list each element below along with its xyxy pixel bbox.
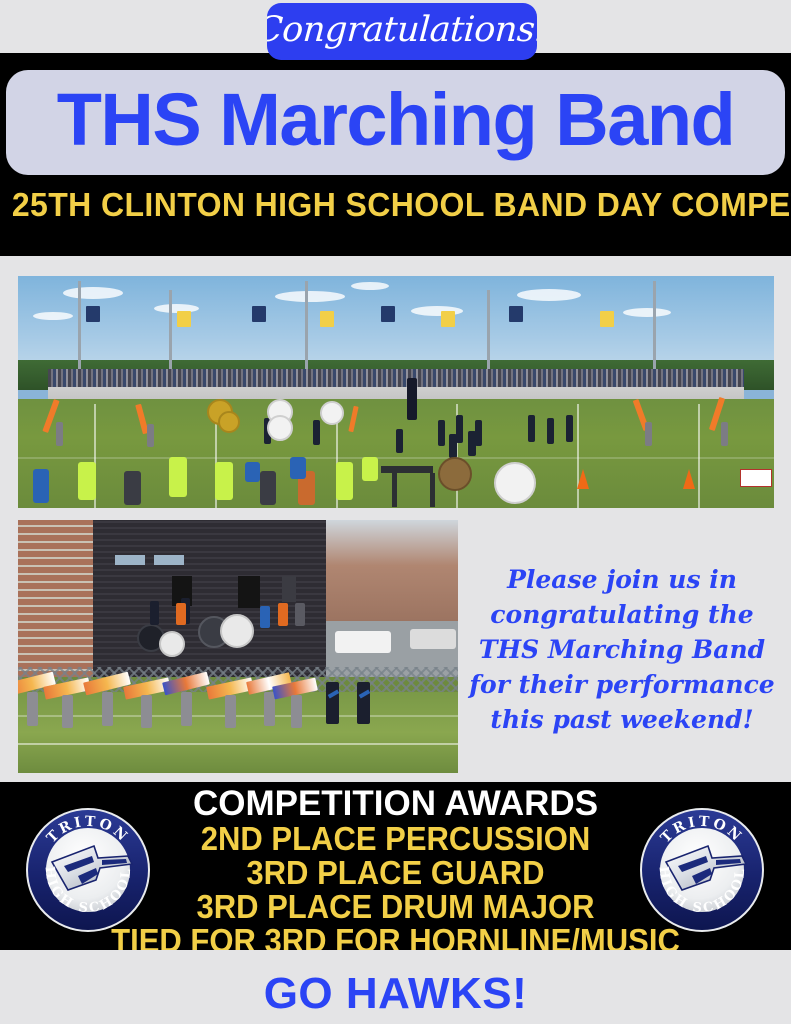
brick-wall bbox=[18, 520, 93, 677]
drum-major bbox=[407, 378, 417, 420]
go-hawks-cheer: GO HAWKS! bbox=[0, 972, 791, 1016]
crowd bbox=[48, 369, 744, 388]
page-title: THS Marching Band bbox=[57, 83, 735, 157]
congratulations-text: Congratulations! bbox=[267, 13, 537, 48]
photo-color-guard-line bbox=[18, 520, 458, 773]
poster: Congratulations! THS Marching Band 25TH … bbox=[0, 0, 791, 1024]
evacuation-route-sign bbox=[740, 469, 772, 487]
title-box: THS Marching Band bbox=[6, 70, 785, 175]
triton-high-school-logo-left: TRITON HIGH SCHOOL bbox=[24, 806, 152, 934]
congratulations-badge: Congratulations! bbox=[267, 3, 537, 60]
event-subtitle: 25TH CLINTON HIGH SCHOOL BAND DAY COMPET… bbox=[12, 188, 779, 221]
grass-field bbox=[18, 692, 458, 773]
background-building bbox=[326, 520, 458, 621]
photo-marching-band-field bbox=[18, 276, 774, 508]
triton-high-school-logo-right: TRITON HIGH SCHOOL bbox=[638, 806, 766, 934]
congratulation-message: Please join us in congratulating the THS… bbox=[466, 524, 778, 774]
